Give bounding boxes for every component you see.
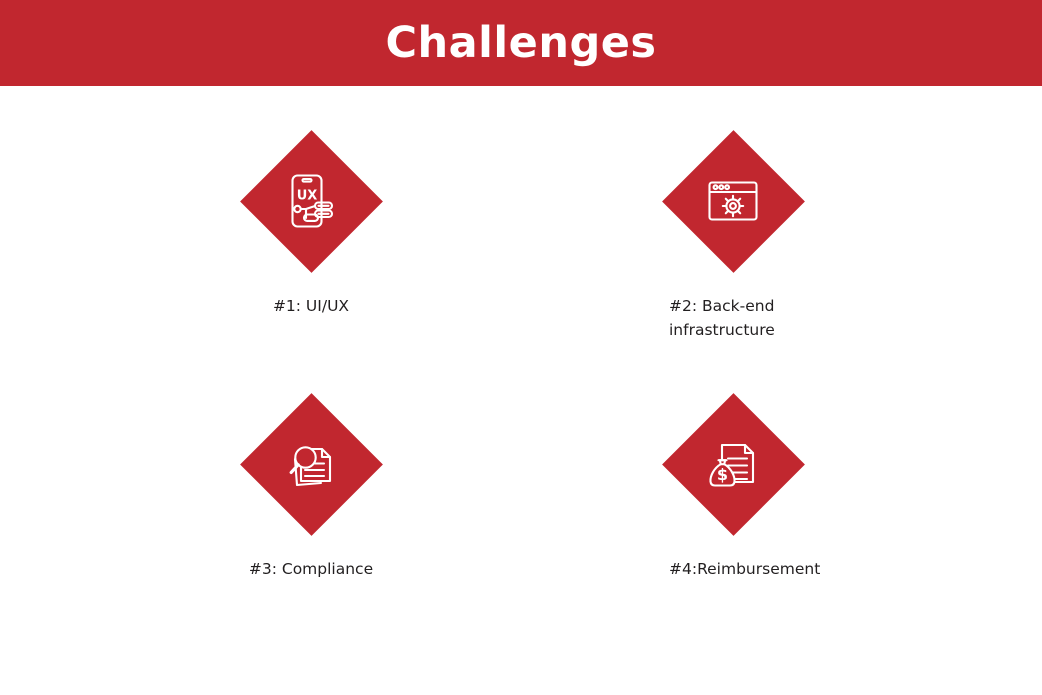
challenge-1-label: #1: UI/UX [161,294,461,318]
mobile-ux-wireframe-icon: UX [236,126,386,276]
browser-window-gear-icon [658,126,808,276]
document-money-bag-icon: $ [658,389,808,539]
header-band: Challenges [0,0,1042,86]
challenges-grid: UX #1: UI/UX [0,86,1042,695]
document-magnifier-icon [236,389,386,539]
challenge-card-3[interactable]: #3: Compliance [161,389,461,581]
challenge-1-diamond: UX [236,126,386,276]
challenge-card-4[interactable]: $ #4:Reimbursement [583,389,883,581]
challenge-card-1[interactable]: UX #1: UI/UX [161,126,461,318]
svg-text:$: $ [717,465,728,484]
svg-text:UX: UX [297,189,318,204]
challenge-3-label: #3: Compliance [161,557,461,581]
challenge-2-label: #2: Back-end infrastructure [583,294,883,342]
page-title: Challenges [386,22,657,65]
challenge-3-diamond [236,389,386,539]
challenge-4-label: #4:Reimbursement [583,557,883,581]
challenge-2-diamond [658,126,808,276]
challenge-card-2[interactable]: #2: Back-end infrastructure [583,126,883,342]
challenge-4-diamond: $ [658,389,808,539]
